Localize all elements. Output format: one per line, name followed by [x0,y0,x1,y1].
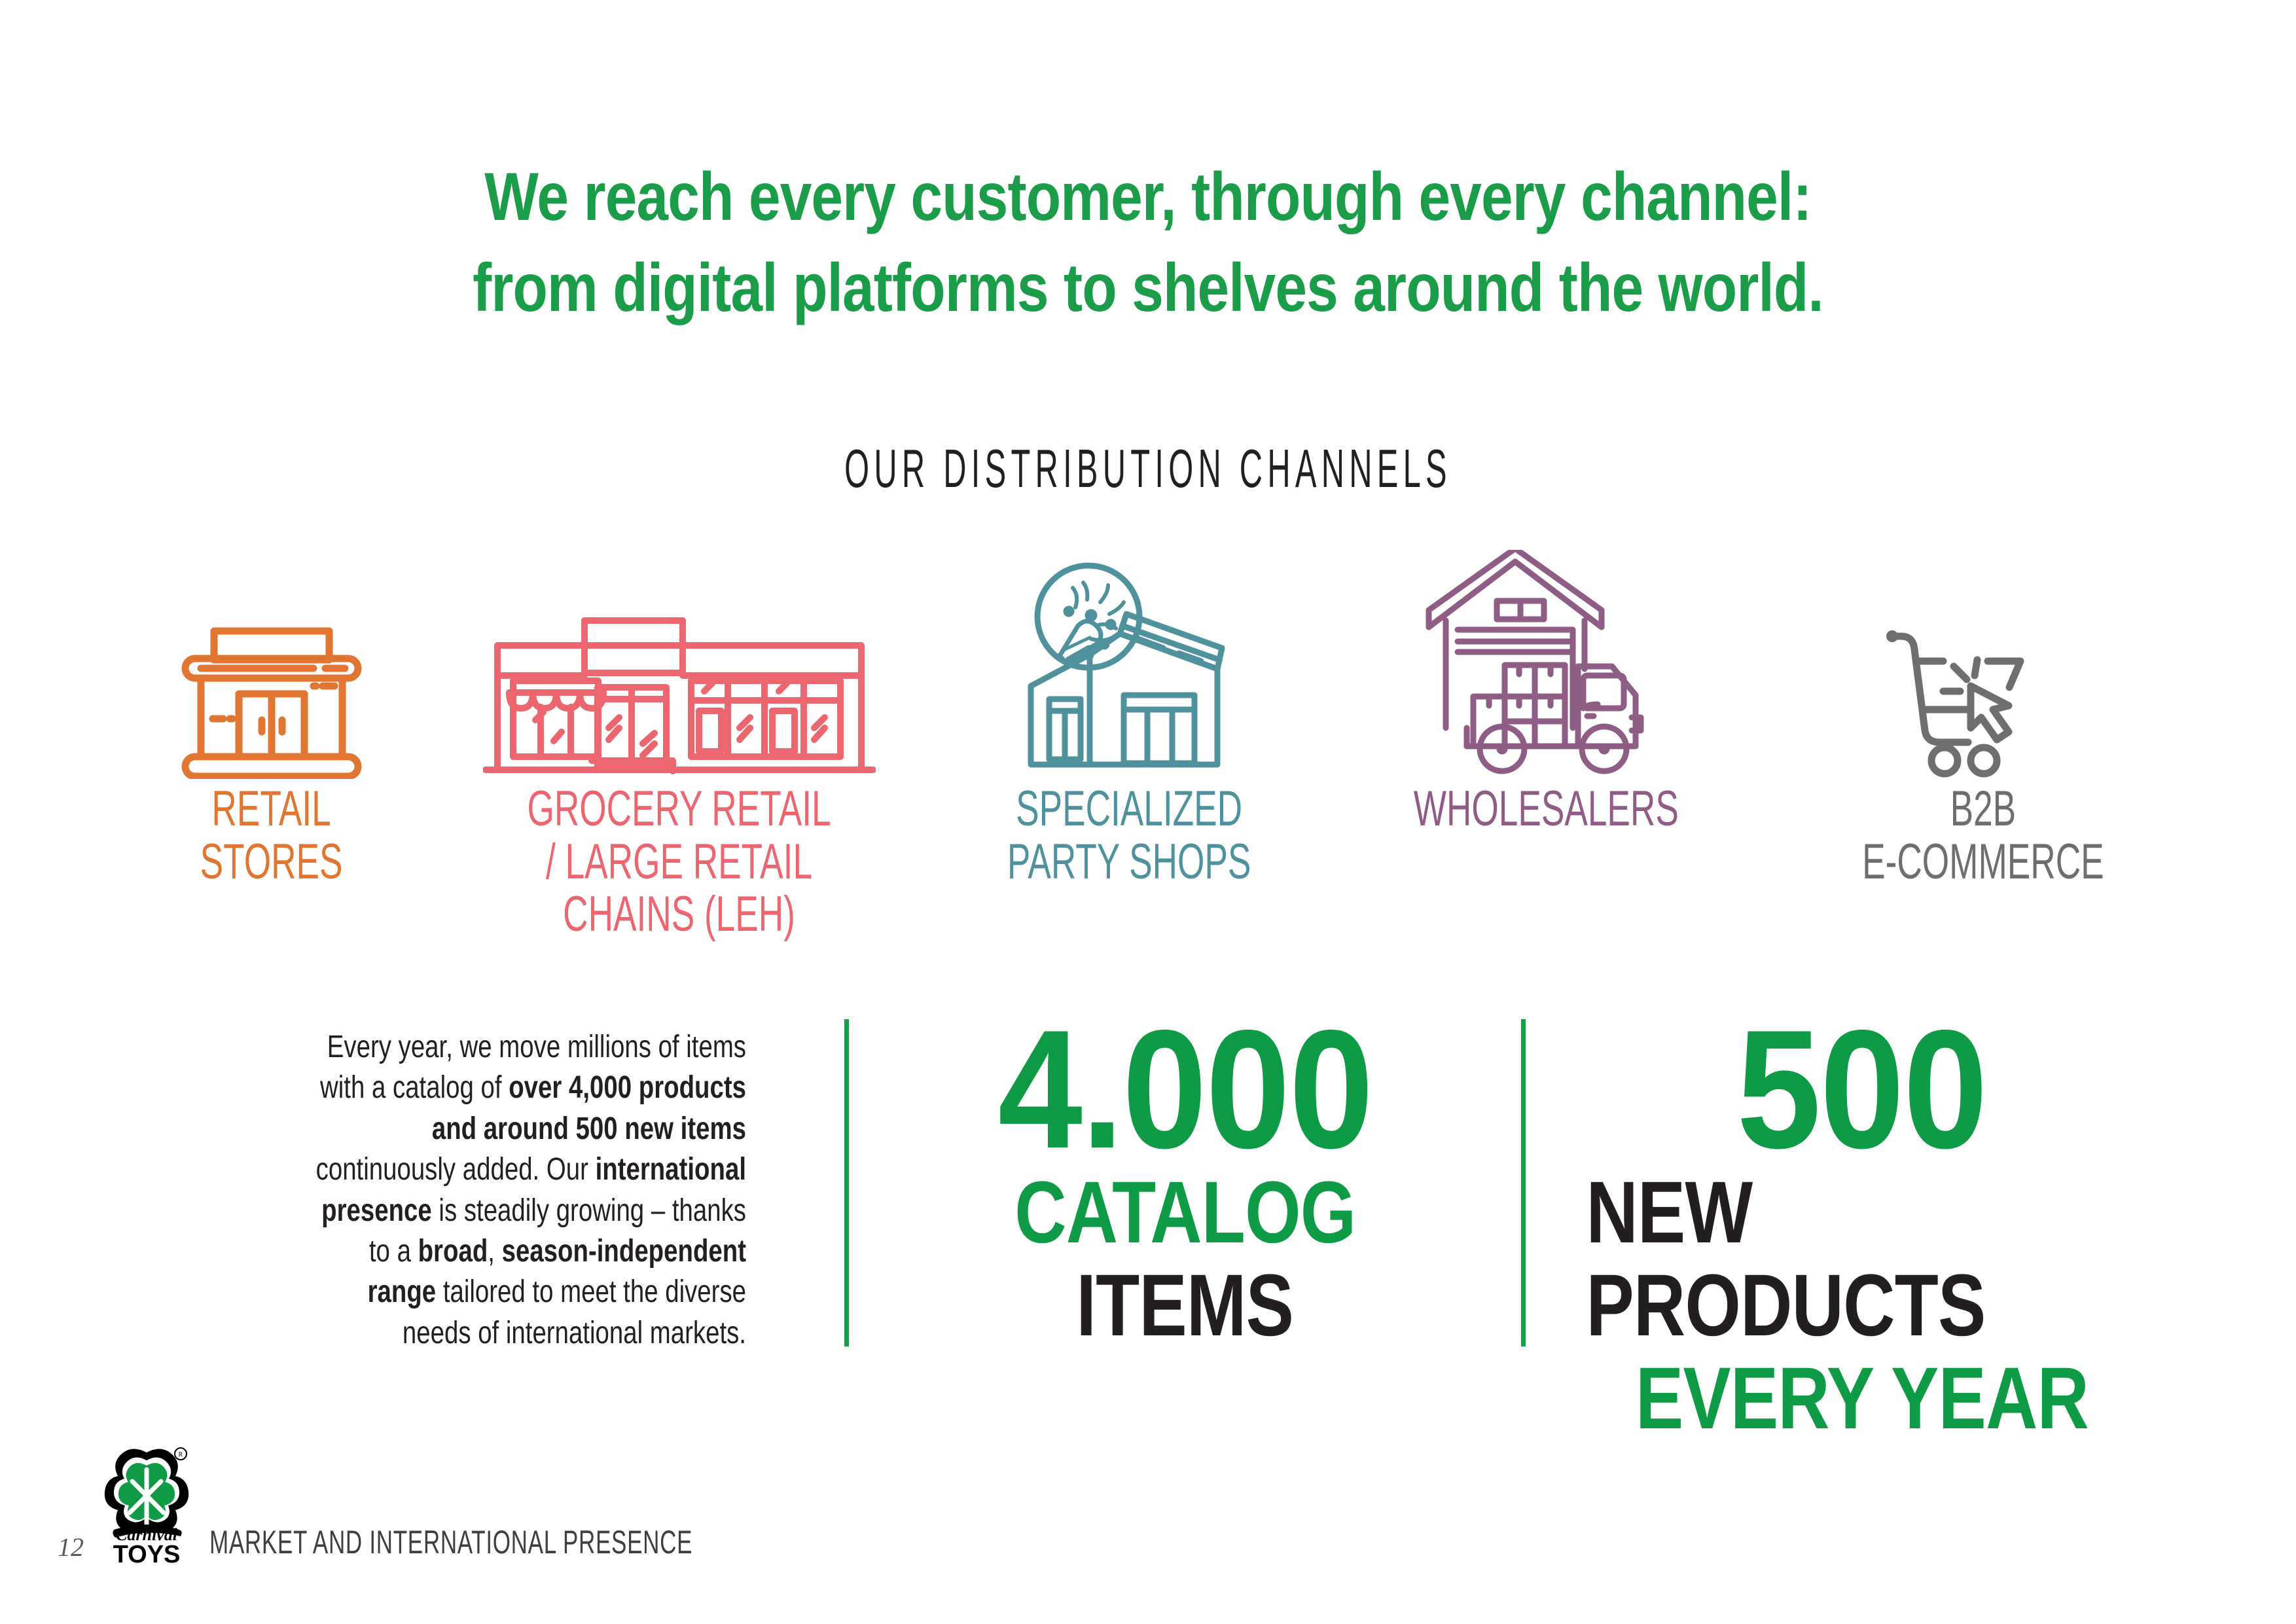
headline-line-1: We reach every customer, through every c… [184,152,2113,243]
blurb-text-run: continuously added. Our [316,1152,596,1187]
cart-cursor-icon [1875,537,2091,779]
warehouse-truck-icon [1416,537,1677,779]
stat-number: 500 [1736,1011,1986,1166]
headline-line-2: from digital platforms to shelves around… [184,243,2113,334]
carnival-toys-clover-logo: R Carnival TOYS [101,1443,192,1568]
blurb-text-run: , [488,1234,501,1269]
blurb-text-run: tailored to meet the diverse needs of in… [403,1274,746,1350]
channel-wholesalers[interactable]: WHOLESALERS [1350,537,1743,836]
channel-retail-stores[interactable]: RETAIL STORES [131,537,412,888]
footer: 12 R Carnival TOYS MARKET AND INTERNATIO… [58,1443,899,1568]
channel-label: B2B E-COMMERCE [1862,783,2104,888]
stat-label-line-2: ITEMS [1077,1259,1294,1352]
stat-divider-left [844,1019,849,1346]
svg-text:TOYS: TOYS [113,1541,181,1568]
channel-label: RETAIL STORES [200,783,343,888]
channel-party-shops[interactable]: SPECIALIZED PARTY SHOPS [946,537,1312,888]
section-title: OUR DISTRIBUTION CHANNELS [390,437,1905,499]
channel-grocery-retail[interactable]: GROCERY RETAIL / LARGE RETAIL CHAINS (LE… [450,537,908,941]
channel-label: WHOLESALERS [1414,783,1679,836]
footer-title: MARKET AND INTERNATIONAL PRESENCE [209,1523,692,1568]
page-headline: We reach every customer, through every c… [184,152,2113,334]
stat-new-products: 500 NEW PRODUCTS EVERY YEAR [1526,1011,2198,1378]
retail-store-icon [173,537,370,779]
stat-divider-right [1521,1019,1526,1346]
stats-section: Every year, we move millions of items wi… [0,1011,2296,1378]
stat-label-line-1: CATALOG [1014,1166,1355,1259]
stat-label-line-2: EVERY YEAR [1635,1352,2088,1445]
blurb-bold-run: broad [418,1234,488,1269]
grocery-store-icon [483,537,876,779]
distribution-channels-row: RETAIL STORES [131,537,2186,929]
page-number: 12 [58,1532,84,1568]
party-shop-icon [992,537,1266,779]
channel-label: SPECIALIZED PARTY SHOPS [1007,783,1251,888]
blurb-paragraph: Every year, we move millions of items wi… [301,1011,746,1378]
stat-number: 4.000 [997,1011,1372,1166]
stat-label-line-1: NEW PRODUCTS [1586,1166,2137,1352]
channel-b2b-ecommerce[interactable]: B2B E-COMMERCE [1780,537,2186,888]
slide-root: We reach every customer, through every c… [0,0,2296,1624]
channel-label: GROCERY RETAIL / LARGE RETAIL CHAINS (LE… [527,783,831,941]
stat-catalog-items: 4.000 CATALOG ITEMS [849,1011,1521,1378]
svg-text:R: R [179,1451,183,1458]
